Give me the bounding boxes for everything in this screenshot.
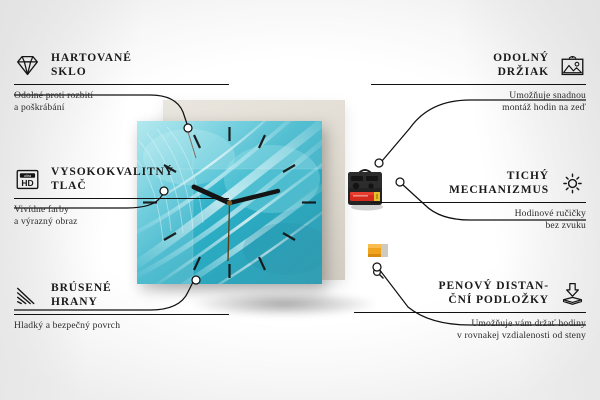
feature-header: PENOVÝ DISTAN- ČNÍ PODLOŽKY [354,280,586,307]
feature-title: ODOLNÝ DRŽIAK [493,52,549,79]
feature-subtitle: Hodinové ručičky bez zvuku [371,208,586,232]
divider [14,198,229,199]
divider [354,312,586,313]
feature-ground-edges: BRÚSENÉ HRANY Hladký a bezpečný povrch [14,282,229,332]
feature-foam-spacers: PENOVÝ DISTAN- ČNÍ PODLOŽKY Umožňuje vám… [354,280,586,342]
feature-hardened-glass: HARTOVANÉ SKLO Odolné proti rozbití a po… [14,52,229,114]
feature-header: ultra HD VYSOKOKVALITNÝ TLAČ [14,166,229,193]
picture-hanger-icon [559,53,586,78]
feature-subtitle: Umožňuje vám držať hodiny v rovnakej vzd… [354,318,586,342]
feature-silent-mechanism: TICHÝ MECHANIZMUS Hodinové ručičky bez z… [371,170,586,232]
feature-subtitle: Odolné proti rozbití a poškrábání [14,90,229,114]
divider [14,314,229,315]
divider [371,84,586,85]
feature-title: HARTOVANÉ SKLO [51,52,132,79]
feature-subtitle: Vivídne farby a výrazný obraz [14,204,229,228]
foam-spacer-icon [559,281,586,306]
foam-spacer-pad [365,241,391,263]
feature-subtitle: Hladký a bezpečný povrch [14,320,229,332]
feature-header: HARTOVANÉ SKLO [14,52,229,79]
feature-title: TICHÝ MECHANIZMUS [449,170,549,197]
feature-header: ODOLNÝ DRŽIAK [371,52,586,79]
feature-header: TICHÝ MECHANIZMUS [371,170,586,197]
magnifier-icon [372,266,384,278]
ultra-hd-icon: ultra HD [14,167,41,192]
promo-infographic: HARTOVANÉ SKLO Odolné proti rozbití a po… [0,0,600,400]
diamond-icon [14,53,41,78]
feature-header: BRÚSENÉ HRANY [14,282,229,309]
feature-durable-hanger: ODOLNÝ DRŽIAK Umožňuje snadnou montáž ho… [371,52,586,114]
feature-title: PENOVÝ DISTAN- ČNÍ PODLOŽKY [439,280,549,307]
divider [14,84,229,85]
feature-title: BRÚSENÉ HRANY [51,282,112,309]
feature-high-quality-print: ultra HD VYSOKOKVALITNÝ TLAČ Vivídne far… [14,166,229,228]
gear-icon [559,171,586,196]
svg-text:HD: HD [21,178,33,188]
feature-subtitle: Umožňuje snadnou montáž hodin na zeď [371,90,586,114]
ground-edges-icon [14,283,41,308]
divider [371,202,586,203]
feature-title: VYSOKOKVALITNÝ TLAČ [51,166,174,193]
